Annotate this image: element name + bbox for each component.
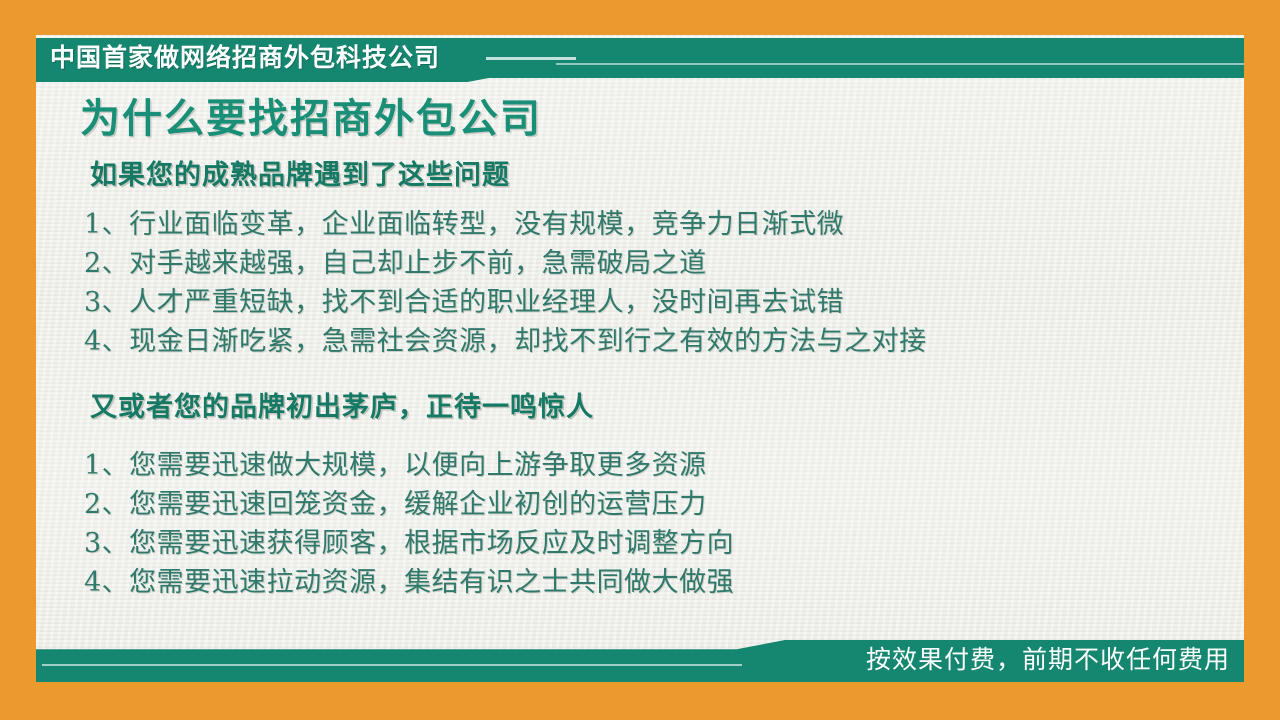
list-item: 1、您需要迅速做大规模，以便向上游争取更多资源 bbox=[84, 446, 1244, 485]
list-item: 2、对手越来越强，自己却止步不前，急需破局之道 bbox=[84, 244, 1244, 283]
spacer bbox=[36, 361, 1244, 391]
list-item: 2、您需要迅速回笼资金，缓解企业初创的运营压力 bbox=[84, 485, 1244, 524]
top-banner: 中国首家做网络招商外包科技公司 bbox=[36, 38, 1244, 84]
slide-canvas: 中国首家做网络招商外包科技公司 为什么要找招商外包公司 如果您的成熟品牌遇到了这… bbox=[0, 0, 1280, 720]
list-item: 3、人才严重短缺，找不到合适的职业经理人，没时间再去试错 bbox=[84, 283, 1244, 322]
list-item: 4、现金日渐吃紧，急需社会资源，却找不到行之有效的方法与之对接 bbox=[84, 322, 1244, 361]
banner-label: 中国首家做网络招商外包科技公司 bbox=[50, 38, 440, 78]
section-heading-2: 又或者您的品牌初出茅庐，正待一鸣惊人 bbox=[36, 391, 1244, 423]
footer-label: 按效果付费，前期不收任何费用 bbox=[866, 642, 1230, 678]
section-heading-1: 如果您的成熟品牌遇到了这些问题 bbox=[36, 159, 1244, 191]
spacer bbox=[36, 191, 1244, 205]
content-area: 为什么要找招商外包公司 如果您的成熟品牌遇到了这些问题 1、行业面临变革，企业面… bbox=[36, 95, 1244, 602]
section-list-2: 1、您需要迅速做大规模，以便向上游争取更多资源 2、您需要迅速回笼资金，缓解企业… bbox=[36, 446, 1244, 602]
banner-rule-icon bbox=[486, 57, 576, 60]
footer-hairline bbox=[42, 664, 742, 666]
section-list-1: 1、行业面临变革，企业面临转型，没有规模，竞争力日渐式微 2、对手越来越强，自己… bbox=[36, 205, 1244, 361]
list-item: 4、您需要迅速拉动资源，集结有识之士共同做大做强 bbox=[84, 563, 1244, 602]
list-item: 3、您需要迅速获得顾客，根据市场反应及时调整方向 bbox=[84, 524, 1244, 563]
page-title: 为什么要找招商外包公司 bbox=[36, 95, 1244, 143]
spacer bbox=[36, 143, 1244, 159]
spacer bbox=[36, 424, 1244, 446]
footer-banner: 按效果付费，前期不收任何费用 bbox=[36, 634, 1244, 682]
list-item: 1、行业面临变革，企业面临转型，没有规模，竞争力日渐式微 bbox=[84, 205, 1244, 244]
